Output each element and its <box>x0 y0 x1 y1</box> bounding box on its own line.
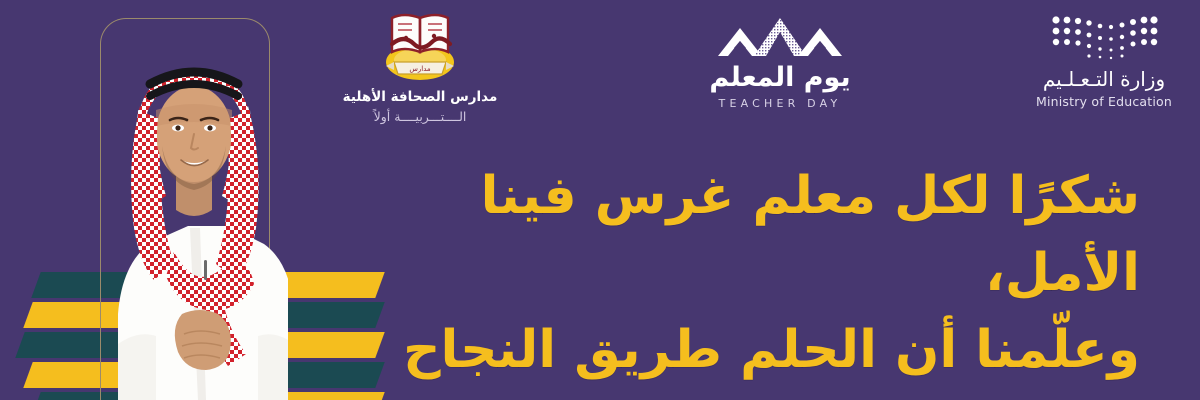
ministry-logo: وزارة التـعـلـيم Ministry of Education <box>1018 12 1190 109</box>
teacher-day-title-ar: يوم المعلم <box>690 64 870 92</box>
teacher-day-title-en: TEACHER DAY <box>690 97 870 110</box>
avatar <box>78 14 310 400</box>
headline-line-2: وعلّمنا أن الحلم طريق النجاح <box>380 312 1140 389</box>
ministry-dots-emblem <box>1048 12 1160 60</box>
emblem-ribbon-label: مدارس <box>409 65 431 73</box>
ministry-name-ar: وزارة التـعـلـيم <box>1018 67 1190 91</box>
school-logo: مدارس مدارس الصحافة الأهلية الــــتـــرب… <box>330 4 510 124</box>
teacher-day-logo: يوم المعلم TEACHER DAY <box>690 14 870 110</box>
open-book-emblem: مدارس <box>370 4 470 86</box>
teacher-day-peaks-emblem <box>714 14 846 60</box>
headline: شكرًا لكل معلم غرس فينا الأمل، وعلّمنا أ… <box>380 158 1140 389</box>
school-tagline-ar: الــــتـــربيــــة أولاً <box>330 109 510 124</box>
teacher-day-banner: مدارس مدارس الصحافة الأهلية الــــتـــرب… <box>0 0 1200 400</box>
headline-line-1: شكرًا لكل معلم غرس فينا الأمل، <box>481 166 1140 303</box>
school-name-ar: مدارس الصحافة الأهلية <box>330 89 510 105</box>
ministry-name-en: Ministry of Education <box>1018 94 1190 109</box>
